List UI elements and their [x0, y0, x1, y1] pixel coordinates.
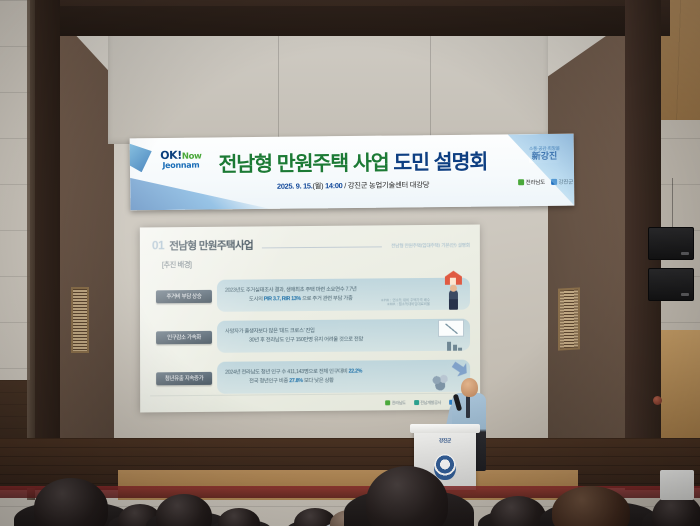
alcove-side-left: [60, 18, 114, 438]
row-label-population-decline: 인구감소 가속화: [156, 330, 212, 343]
footer-logo-jeonnam: 전라남도: [385, 400, 405, 406]
ceiling-seam-right: [430, 26, 431, 144]
crowd-icon: [430, 373, 452, 391]
row-line-2-highlight: 27.8%: [289, 378, 303, 384]
banner-title: 전남형 만원주택 사업 도민 설명회: [198, 144, 508, 177]
loudspeaker-upper: [648, 227, 694, 260]
slide-footer-logos: 전라남도 전남개발공사 강진군: [140, 400, 480, 409]
wall-vent-left: [71, 287, 89, 353]
banner-date: 2025. 9. 15.: [277, 181, 313, 190]
slide-title: 전남형 만원주택사업: [169, 237, 253, 253]
row-note-rir: ※RIR : 월소득대비임대료비율: [381, 302, 430, 307]
person-icon: [449, 290, 458, 310]
loudspeaker-lower: [648, 268, 694, 301]
clipart-declining-chart: [432, 318, 468, 352]
gangjin-slogan: 소통·공감·희망을: [529, 147, 560, 153]
ceiling-panel: [108, 26, 548, 144]
line-chart-icon: [438, 320, 464, 337]
slide-row-housing-cost: 주거비 부담 상승 2023년도 주거실태조사 결과, 생애최초 주택 마련 소…: [156, 277, 470, 314]
speaker-wire: [672, 178, 673, 228]
event-banner: OK!Now Jeonnam 전남형 만원주택 사업 도민 설명회 2025. …: [130, 134, 575, 211]
row-line-2: 전국 청년인구 비중 27.8% 보다 낮은 상황: [225, 376, 434, 387]
metal-pillar-left: [27, 0, 35, 500]
presenter-head: [461, 378, 478, 397]
arrow-icon: [449, 358, 471, 380]
bar-1: [447, 342, 451, 351]
bar-chart-icon: [447, 342, 462, 351]
banner-title-part1: 전남형 만원주택 사업: [218, 152, 388, 177]
podium-logo-label: 강진군: [414, 438, 476, 444]
alcove-side-right: [548, 22, 626, 440]
side-monitor: [660, 470, 694, 500]
slide-breadcrumb: 전남형 만원주택(임대주택) 기본(안) 설명회: [391, 243, 470, 250]
row-footnotes: ※PIR : 연소득 대비 주택가격 배수 ※RIR : 월소득대비임대료비율: [381, 298, 430, 308]
footer-logo-development: 전남개발공사: [414, 400, 441, 406]
banner-place: 강진군 농업기술센터 대강당: [348, 180, 430, 190]
jeonnam-logo-icon: [385, 400, 390, 405]
banner-org-left-label: 전라남도: [526, 180, 545, 186]
row-line-1-highlight: 22.2%: [349, 368, 363, 374]
row-label-housing-cost: 주거비 부담 상승: [156, 289, 212, 302]
banner-org-left: 전라남도: [518, 178, 545, 186]
wall-knob: [653, 396, 662, 405]
development-corp-logo-icon: [414, 400, 419, 405]
banner-title-part2: 도민 설명회: [393, 151, 487, 175]
bar-3: [458, 348, 462, 351]
podium-top-surface: [410, 424, 480, 433]
row-line-1-pre: 2024년 전라남도 청년 인구 수 411,143명으로 전체 인구대비: [225, 368, 347, 375]
audience-foreground: [0, 450, 700, 526]
row-line-2-post: 보다 낮은 상황: [304, 378, 334, 384]
ceiling-seam-left: [278, 26, 279, 144]
row-line-2-pre: 도시의: [249, 296, 263, 302]
banner-ribbon-icon: [130, 142, 152, 172]
row-line-2: 30년 후 전라남도 인구 150만명 유지 어려울 것으로 전망: [225, 335, 434, 346]
audience-head: [34, 478, 108, 526]
gangjin-name: 新강진: [529, 152, 560, 163]
clipart-house-carrier: [432, 277, 468, 311]
audience-head: [490, 496, 546, 526]
gangjin-mark-icon: [551, 179, 557, 185]
conference-hall-photo: OK!Now Jeonnam 전남형 만원주택 사업 도민 설명회 2025. …: [0, 0, 700, 526]
banner-subtitle: 2025. 9. 15.(월) 14:00 / 강진군 농업기술센터 대강당: [198, 178, 508, 192]
slide-row-population-decline: 인구감소 가속화 사망자가 출생자보다 많은 '데드 크로스' 진입 30년 후…: [156, 318, 470, 355]
jeonnam-mark-icon: [518, 179, 524, 185]
house-icon: [445, 271, 462, 285]
slide-header: 01 전남형 만원주택사업 전남형 만원주택(임대주택) 기본(안) 설명회: [152, 236, 470, 254]
audience-head: [218, 508, 260, 526]
row-label-youth-outflow: 청년유출 지속증가: [156, 371, 212, 384]
banner-separator: /: [344, 181, 346, 190]
gangjin-brand-logo: 소통·공감·희망을 新강진: [529, 147, 560, 163]
projection-screen: 01 전남형 만원주택사업 전남형 만원주택(임대주택) 기본(안) 설명회 […: [140, 225, 480, 413]
slide-number: 01: [152, 238, 164, 252]
footer-logo-development-label: 전남개발공사: [420, 400, 441, 405]
banner-org-right: 강진군: [551, 178, 573, 186]
banner-org-right-label: 강진군: [558, 180, 573, 186]
slide-title-rule: [262, 246, 382, 248]
audience-head: [552, 486, 630, 526]
slide-subheading: [추진 배경]: [162, 260, 192, 270]
banner-organizers: 전라남도 강진군: [518, 178, 573, 187]
bar-2: [453, 345, 457, 351]
audience-head: [366, 466, 448, 526]
audience-head: [156, 494, 212, 526]
row-line-2-highlight: PIR 3.7, RIR 13%: [264, 296, 301, 302]
alcove-frame-top-inner: [58, 6, 639, 36]
footer-logo-jeonnam-label: 전라남도: [392, 400, 406, 405]
row-line-2-post: 으로 주거 관련 부담 가중: [302, 296, 352, 302]
banner-day: (월): [312, 181, 323, 190]
wall-vent-right: [558, 287, 580, 350]
presenter-tie: [466, 396, 470, 418]
slide-row-youth-outflow: 청년유출 지속증가 2024년 전라남도 청년 인구 수 411,143명으로 …: [156, 359, 470, 396]
banner-time: 14:00: [325, 181, 342, 190]
row-line-2-pre: 전국 청년인구 비중: [249, 378, 288, 384]
